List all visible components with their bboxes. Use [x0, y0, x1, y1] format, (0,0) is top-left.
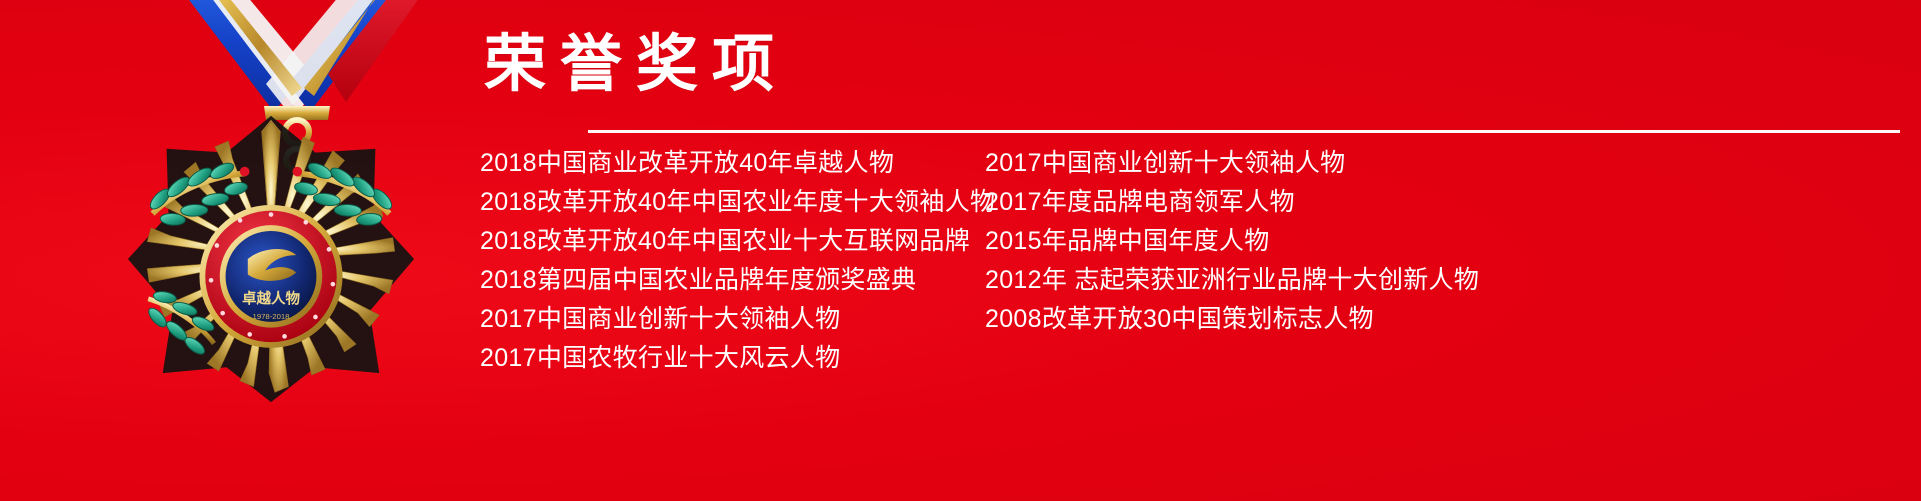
medal-center-years: 1978-2018 [253, 312, 290, 321]
awards-left-column: 2018中国商业改革开放40年卓越人物 2018改革开放40年中国农业年度十大领… [480, 144, 985, 378]
award-item: 2017中国商业创新十大领袖人物 [480, 300, 985, 339]
award-medal-graphic: 卓越人物 1978-2018 [118, 0, 478, 414]
awards-columns: 2018中国商业改革开放40年卓越人物 2018改革开放40年中国农业年度十大领… [480, 144, 1900, 378]
awards-right-column: 2017中国商业创新十大领袖人物 2017年度品牌电商领军人物 2015年品牌中… [985, 144, 1900, 378]
page-title: 荣誉奖项 [484, 34, 1900, 96]
award-item: 2015年品牌中国年度人物 [985, 222, 1900, 261]
medal-center-label: 卓越人物 [242, 289, 300, 307]
award-item: 2017年度品牌电商领军人物 [985, 183, 1900, 222]
award-item: 2017中国商业创新十大领袖人物 [985, 144, 1900, 183]
award-item: 2018中国商业改革开放40年卓越人物 [480, 144, 985, 183]
award-item: 2017中国农牧行业十大风云人物 [480, 339, 985, 378]
award-item: 2018改革开放40年中国农业十大互联网品牌 [480, 222, 985, 261]
award-item: 2008改革开放30中国策划标志人物 [985, 300, 1900, 339]
awards-content: 荣誉奖项 2018中国商业改革开放40年卓越人物 2018改革开放40年中国农业… [480, 34, 1900, 474]
award-item: 2012年 志起荣获亚洲行业品牌十大创新人物 [985, 261, 1900, 300]
title-divider [588, 130, 1900, 133]
award-item: 2018改革开放40年中国农业年度十大领袖人物 [480, 183, 985, 222]
award-item: 2018第四届中国农业品牌年度颁奖盛典 [480, 261, 985, 300]
honor-awards-banner: 卓越人物 1978-2018 荣誉奖项 2018中国商业改革开放40年卓越人物 … [0, 0, 1921, 501]
medal-body-icon: 卓越人物 1978-2018 [126, 114, 416, 404]
